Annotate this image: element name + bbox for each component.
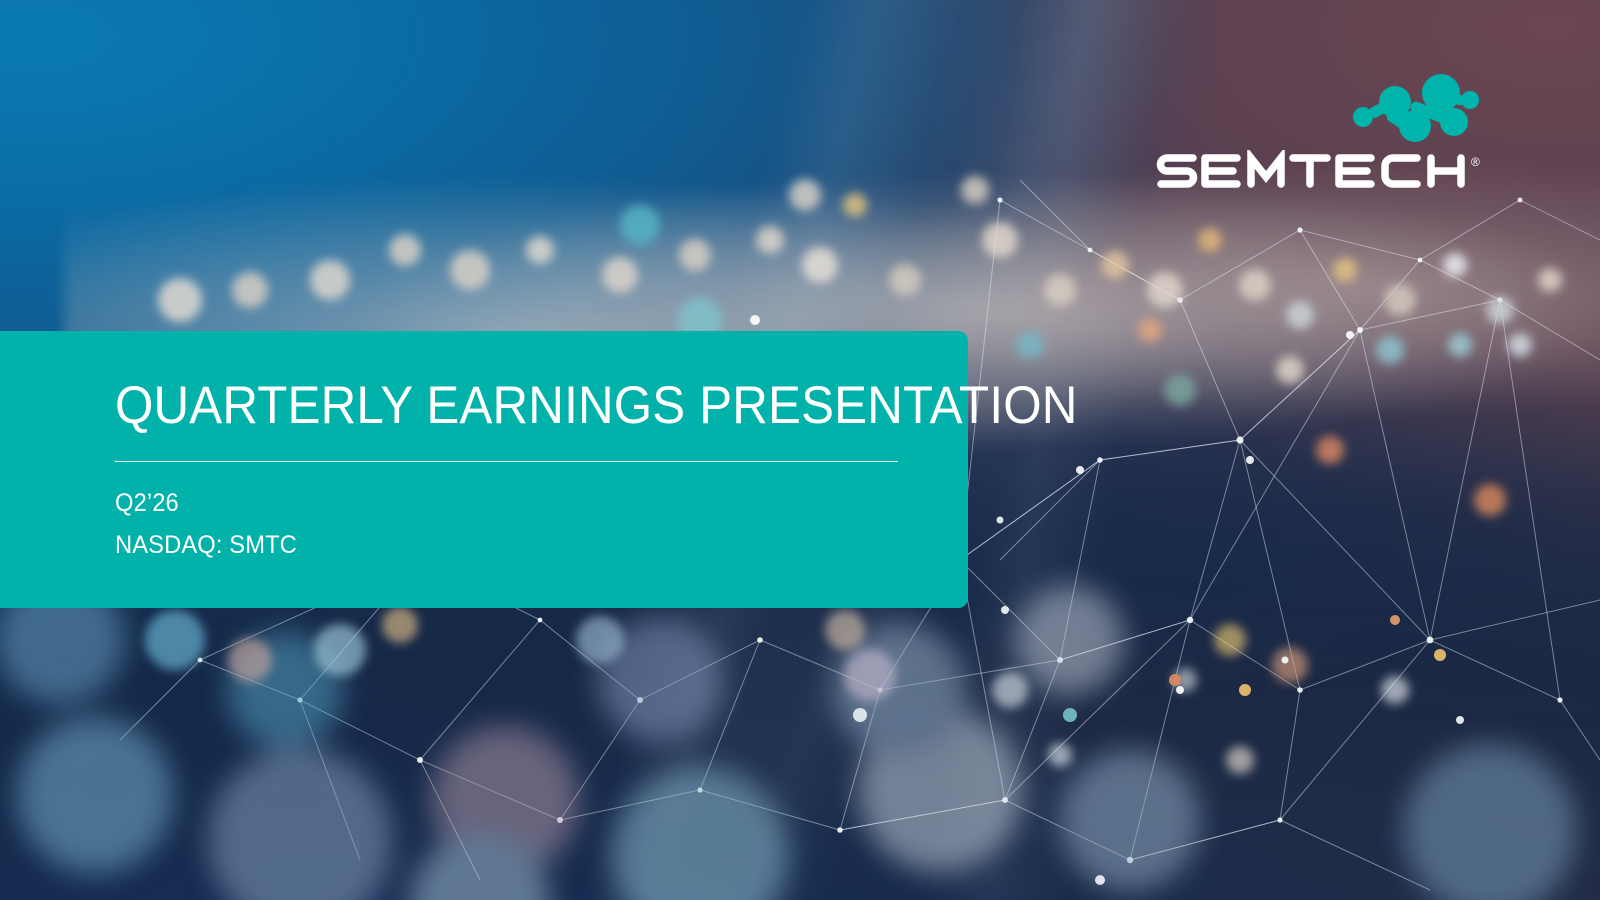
- semtech-logo: ®: [1155, 72, 1485, 202]
- subtitle-quarter: Q2’26: [115, 491, 179, 516]
- semtech-wordmark: ®: [1155, 150, 1485, 196]
- title-banner: QUARTERLY EARNINGS PRESENTATION Q2’26 NA…: [0, 331, 968, 608]
- semtech-molecule-icon: [1351, 72, 1479, 142]
- registered-trademark-symbol: ®: [1471, 155, 1480, 169]
- title-slide: QUARTERLY EARNINGS PRESENTATION Q2’26 NA…: [0, 0, 1600, 900]
- subtitle-ticker: NASDAQ: SMTC: [115, 533, 297, 558]
- title-divider: [115, 461, 898, 462]
- page-title: QUARTERLY EARNINGS PRESENTATION: [115, 379, 1078, 432]
